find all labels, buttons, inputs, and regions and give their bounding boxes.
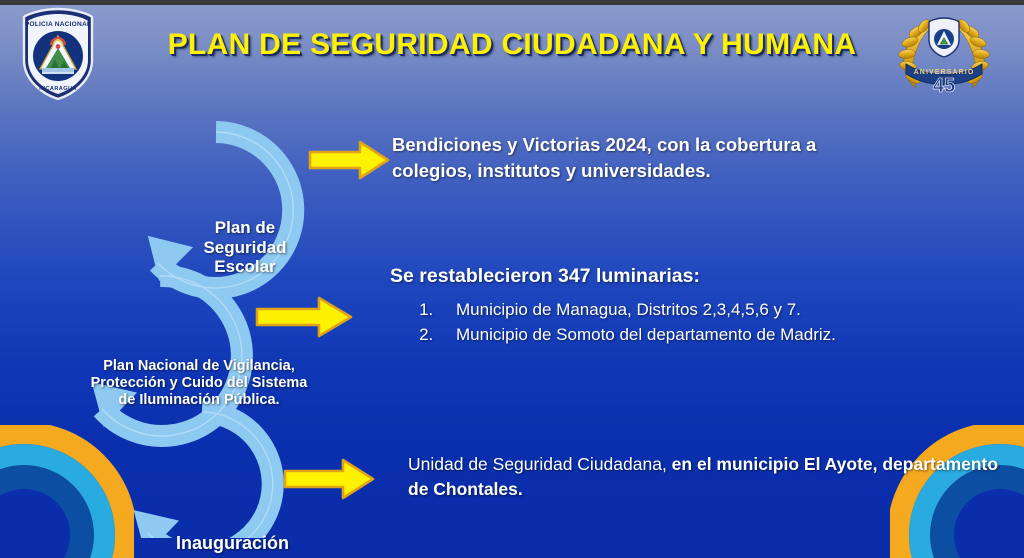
content-row-1: Bendiciones y Victorias 2024, con la cob… [392,132,992,185]
yellow-arrow-row-2-icon [255,295,353,344]
node-line-1: Plan de [215,218,275,237]
cycle-node-label-plan-nacional-iluminacion: Plan Nacional de Vigilancia, Protección … [88,358,310,408]
slide-title: PLAN DE SEGURIDAD CIUDADANA Y HUMANA [0,28,1024,62]
top-chrome-bar [0,0,1024,5]
yellow-arrow-row-1-icon [308,139,390,186]
policia-nacional-shield-icon: POLICIA NACIONAL NICARAGUA [18,6,98,107]
node-line-2: Seguridad [203,238,286,257]
cycle-node-label-inauguracion: Inauguración [140,533,325,554]
row2-heading: Se restablecieron 347 luminarias: [390,263,990,290]
row2-list: Municipio de Managua, Distritos 2,3,4,5,… [390,298,990,347]
slide-canvas: POLICIA NACIONAL NICARAGUA [0,0,1024,558]
row3-text-normal: Unidad de Seguridad Ciudadana, [408,454,672,474]
45-aniversario-emblem-icon: ANIVERSARIO 45 [888,8,1000,109]
content-row-2: Se restablecieron 347 luminarias: Munici… [390,263,990,348]
list-item: Municipio de Somoto del departamento de … [438,323,990,348]
cycle-node-label-plan-seguridad-escolar: Plan de Seguridad Escolar [180,218,310,277]
list-item: Municipio de Managua, Distritos 2,3,4,5,… [438,298,990,323]
svg-text:45: 45 [933,75,955,97]
row1-text-part1: Bendiciones y Victorias 2024, con la cob… [392,134,816,155]
content-row-3: Unidad de Seguridad Ciudadana, en el mun… [408,452,1004,503]
svg-text:POLICIA NACIONAL: POLICIA NACIONAL [25,21,91,28]
yellow-arrow-row-3-icon [283,457,375,506]
row1-text-part2: colegios, institutos y universidades. [392,158,992,184]
node-line-3: Escolar [214,257,275,276]
svg-text:NICARAGUA: NICARAGUA [39,86,77,92]
